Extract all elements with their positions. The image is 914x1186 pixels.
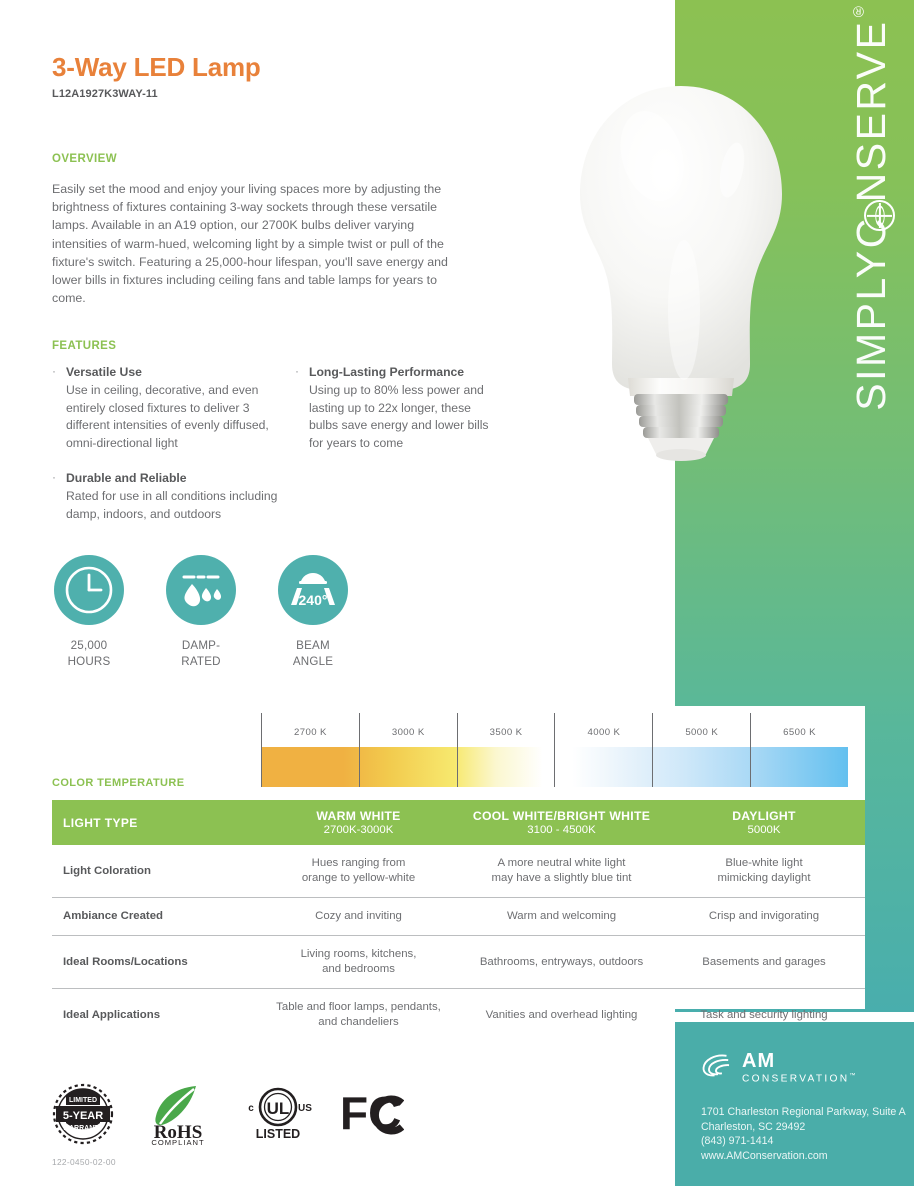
certification-logos: LIMITED 5-YEAR WARRANTY RoHS COMPLIANT U… [52, 1082, 404, 1151]
svg-text:c: c [248, 1103, 254, 1114]
svg-text:WARRANTY: WARRANTY [63, 1125, 104, 1132]
table-row: Ideal Rooms/Locations Living rooms, kitc… [52, 936, 865, 989]
am-conservation-swirl-icon [701, 1052, 735, 1080]
table-cell: Table and floor lamps, pendants,and chan… [257, 989, 460, 1042]
table-cell: Bathrooms, entryways, outdoors [460, 936, 663, 989]
kelvin-cell: 4000 K [555, 713, 653, 787]
overview-heading: OVERVIEW [52, 153, 117, 165]
table-cell: A more neutral white lightmay have a sli… [460, 845, 663, 898]
color-temperature-scale: 2700 K 3000 K 3500 K 4000 K 5000 K 6500 … [261, 713, 848, 787]
overview-text: Easily set the mood and enjoy your livin… [52, 180, 457, 307]
badge-label: DAMP-RATED [164, 638, 238, 669]
website-url[interactable]: www.AMConservation.com [701, 1149, 906, 1164]
table-cell: Blue-white lightmimicking daylight [663, 845, 865, 898]
company-logo: AM CONSERVATION™ [701, 1052, 858, 1084]
color-temperature-label: COLOR TEMPERATURE [52, 777, 184, 789]
kelvin-cell: 6500 K [751, 713, 848, 787]
feature-item: · Long-Lasting Performance Using up to 8… [295, 364, 495, 452]
row-label: Ambiance Created [52, 898, 257, 936]
table-cell: Cozy and inviting [257, 898, 460, 936]
brand-name-text: SIMPLYC NSERVE® [851, 0, 892, 507]
feature-title: Durable and Reliable [66, 470, 287, 487]
svg-text:US: US [298, 1103, 312, 1114]
table-cell: Warm and welcoming [460, 898, 663, 936]
globe-icon [864, 200, 895, 231]
table-row: Light Coloration Hues ranging fromorange… [52, 845, 865, 898]
company-name-conservation: CONSERVATION™ [742, 1073, 858, 1084]
badge-label: 25,000HOURS [52, 638, 126, 669]
feature-body: Using up to 80% less power and lasting u… [309, 383, 489, 449]
page-title: 3-Way LED Lamp [52, 52, 261, 83]
table-cell: Hues ranging fromorange to yellow-white [257, 845, 460, 898]
feature-item: · Versatile Use Use in ceiling, decorati… [52, 364, 287, 452]
feature-title: Long-Lasting Performance [309, 364, 495, 381]
product-image-led-bulb [556, 78, 806, 478]
light-type-comparison-table: LIGHT TYPE WARM WHITE 2700K-3000K COOL W… [52, 800, 865, 1041]
company-name-am: AM [742, 1052, 858, 1070]
bullet-icon: · [52, 469, 56, 486]
clock-icon [54, 555, 124, 625]
feature-item: · Durable and Reliable Rated for use in … [52, 470, 287, 523]
table-header-cool-white: COOL WHITE/BRIGHT WHITE 3100 - 4500K [460, 800, 663, 845]
kelvin-cell: 3000 K [360, 713, 458, 787]
feature-body: Use in ceiling, decorative, and even ent… [66, 383, 269, 449]
table-header-light-type: LIGHT TYPE [52, 800, 257, 845]
table-row: Ambiance Created Cozy and inviting Warm … [52, 898, 865, 936]
svg-text:5-YEAR: 5-YEAR [63, 1110, 103, 1122]
row-label: Light Coloration [52, 845, 257, 898]
rohs-icon: RoHS COMPLIANT [140, 1082, 216, 1151]
phone-number[interactable]: (843) 971-1414 [701, 1134, 906, 1149]
table-cell: Crisp and invigorating [663, 898, 865, 936]
document-code: 122-0450-02-00 [52, 1157, 116, 1167]
product-sku: L12A1927K3WAY-11 [52, 88, 158, 100]
warranty-seal-icon: LIMITED 5-YEAR WARRANTY [52, 1083, 114, 1150]
table-cell: Basements and garages [663, 936, 865, 989]
svg-text:UL: UL [267, 1099, 290, 1118]
features-heading: FEATURES [52, 340, 116, 352]
table-header-row: LIGHT TYPE WARM WHITE 2700K-3000K COOL W… [52, 800, 865, 845]
footer-contact-panel: AM CONSERVATION™ 1701 Charleston Regiona… [675, 1022, 914, 1186]
spec-badges: 25,000HOURS DAMP-RATED [52, 555, 350, 669]
table-header-daylight: DAYLIGHT 5000K [663, 800, 865, 845]
badge-hours: 25,000HOURS [52, 555, 126, 669]
feature-title: Versatile Use [66, 364, 287, 381]
water-drop-icon [166, 555, 236, 625]
table-header-warm-white: WARM WHITE 2700K-3000K [257, 800, 460, 845]
beam-angle-value: 240° [299, 592, 328, 608]
bullet-icon: · [295, 363, 299, 380]
fcc-icon: FC [340, 1089, 404, 1144]
row-label: Ideal Applications [52, 989, 257, 1042]
spec-sheet-page: SIMPLYC NSERVE® [0, 0, 914, 1186]
address-line-2: Charleston, SC 29492 [701, 1120, 906, 1135]
badge-beam-angle: 240° BEAMANGLE [276, 555, 350, 669]
badge-damp-rated: DAMP-RATED [164, 555, 238, 669]
table-cell: Living rooms, kitchens,and bedrooms [257, 936, 460, 989]
row-label: Ideal Rooms/Locations [52, 936, 257, 989]
svg-text:LIMITED: LIMITED [69, 1097, 97, 1104]
features-column-left: · Versatile Use Use in ceiling, decorati… [52, 364, 287, 541]
svg-text:COMPLIANT: COMPLIANT [151, 1138, 204, 1146]
kelvin-cell: 5000 K [653, 713, 751, 787]
kelvin-cell: 3500 K [458, 713, 556, 787]
registered-trademark-icon: ® [850, 0, 867, 20]
features-column-right: · Long-Lasting Performance Using up to 8… [295, 364, 495, 470]
footer-address: 1701 Charleston Regional Parkway, Suite … [701, 1105, 906, 1163]
badge-label: BEAMANGLE [276, 638, 350, 669]
svg-text:LISTED: LISTED [256, 1127, 300, 1141]
table-cell: Vanities and overhead lighting [460, 989, 663, 1042]
address-line-1: 1701 Charleston Regional Parkway, Suite … [701, 1105, 906, 1120]
feature-body: Rated for use in all conditions includin… [66, 489, 277, 520]
bullet-icon: · [52, 363, 56, 380]
beam-angle-icon: 240° [278, 555, 348, 625]
kelvin-cell: 2700 K [262, 713, 360, 787]
ul-listed-icon: UL c US LISTED [242, 1085, 314, 1148]
